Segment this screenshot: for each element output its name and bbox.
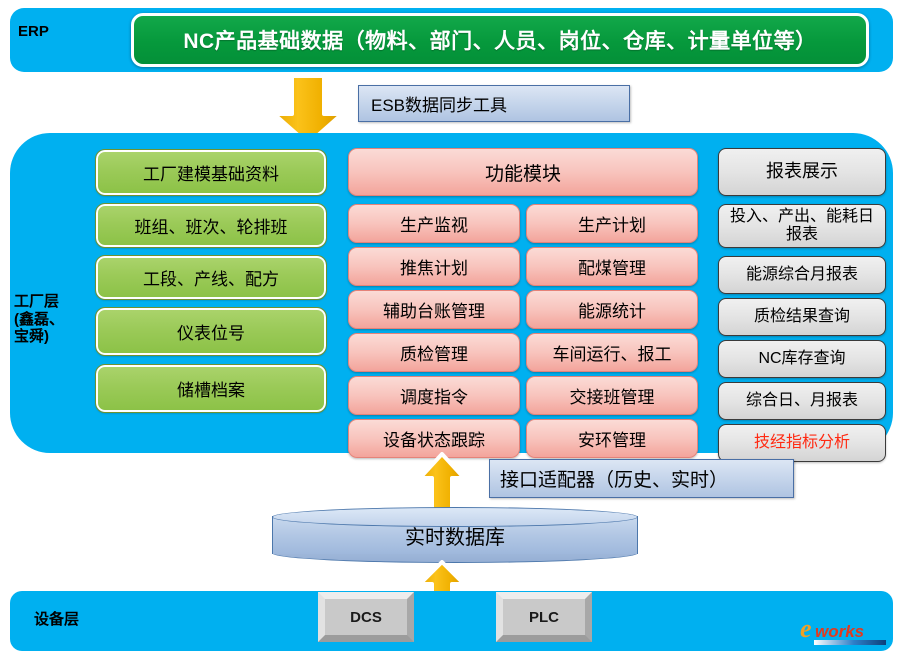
report-item-2-label: 质检结果查询 (754, 308, 850, 326)
module-0-right[interactable]: 生产计划 (526, 204, 698, 243)
factory-item-4[interactable]: 储槽档案 (96, 365, 326, 412)
factory-item-2-label: 工段、产线、配方 (143, 265, 279, 290)
report-item-4-label: 综合日、月报表 (746, 392, 858, 410)
report-item-5-label: 技经指标分析 (754, 434, 850, 452)
realtime-database-label: 实时数据库 (272, 507, 638, 563)
module-0-right-label: 生产计划 (578, 211, 646, 236)
interface-adapter-label: 接口适配器（历史、实时） (500, 465, 728, 492)
module-0-left[interactable]: 生产监视 (348, 204, 520, 243)
svg-text:works: works (815, 622, 864, 641)
device-layer-label: 设备层 (34, 612, 79, 629)
module-5-left-label: 设备状态跟踪 (383, 426, 485, 451)
function-modules-header: 功能模块 (348, 148, 698, 196)
report-item-3-label: NC库存查询 (758, 350, 845, 368)
module-2-left-label: 辅助台账管理 (383, 297, 485, 322)
report-item-0[interactable]: 投入、产出、能耗日报表 (718, 204, 886, 248)
module-2-right-label: 能源统计 (578, 297, 646, 322)
module-2-right[interactable]: 能源统计 (526, 290, 698, 329)
report-item-5[interactable]: 技经指标分析 (718, 424, 886, 462)
module-3-right[interactable]: 车间运行、报工 (526, 333, 698, 372)
module-1-right[interactable]: 配煤管理 (526, 247, 698, 286)
module-1-left[interactable]: 推焦计划 (348, 247, 520, 286)
device-node-dcs-label: DCS (350, 609, 382, 626)
module-4-right[interactable]: 交接班管理 (526, 376, 698, 415)
module-4-left-label: 调度指令 (400, 383, 468, 408)
module-3-left-label: 质检管理 (400, 340, 468, 365)
erp-master-data-label: NC产品基础数据（物料、部门、人员、岗位、仓库、计量单位等） (183, 25, 816, 55)
up-arrow-icon-adapter (418, 452, 466, 512)
reports-header: 报表展示 (718, 148, 886, 196)
module-3-right-label: 车间运行、报工 (553, 340, 672, 365)
report-item-1-label: 能源综合月报表 (746, 266, 858, 284)
erp-layer-label: ERP (18, 24, 49, 41)
module-3-left[interactable]: 质检管理 (348, 333, 520, 372)
erp-master-data-box[interactable]: NC产品基础数据（物料、部门、人员、岗位、仓库、计量单位等） (131, 13, 869, 67)
report-item-3[interactable]: NC库存查询 (718, 340, 886, 378)
function-modules-header-label: 功能模块 (485, 159, 561, 186)
factory-item-1[interactable]: 班组、班次、轮排班 (96, 204, 326, 247)
realtime-database-cylinder[interactable]: 实时数据库 (272, 507, 638, 563)
factory-layer-label: 工厂层 (鑫磊、 宝舜) (14, 293, 100, 346)
report-item-2[interactable]: 质检结果查询 (718, 298, 886, 336)
module-1-left-label: 推焦计划 (400, 254, 468, 279)
module-4-left[interactable]: 调度指令 (348, 376, 520, 415)
factory-item-4-label: 储槽档案 (177, 376, 245, 401)
reports-header-label: 报表展示 (766, 162, 838, 182)
report-item-4[interactable]: 综合日、月报表 (718, 382, 886, 420)
module-2-left[interactable]: 辅助台账管理 (348, 290, 520, 329)
module-4-right-label: 交接班管理 (570, 383, 655, 408)
interface-adapter-callout[interactable]: 接口适配器（历史、实时） (489, 459, 794, 498)
module-1-right-label: 配煤管理 (578, 254, 646, 279)
esb-sync-tool-callout[interactable]: ESB数据同步工具 (358, 85, 630, 122)
diagram-canvas: ERP NC产品基础数据（物料、部门、人员、岗位、仓库、计量单位等） ESB数据… (0, 0, 901, 659)
report-item-0-label: 投入、产出、能耗日报表 (727, 208, 877, 243)
module-5-right[interactable]: 安环管理 (526, 419, 698, 458)
factory-item-1-label: 班组、班次、轮排班 (135, 213, 288, 238)
device-node-plc[interactable]: PLC (496, 592, 592, 642)
device-node-dcs[interactable]: DCS (318, 592, 414, 642)
module-0-left-label: 生产监视 (400, 211, 468, 236)
eworks-logo: e works (800, 612, 892, 648)
report-item-1[interactable]: 能源综合月报表 (718, 256, 886, 294)
factory-item-3-label: 仪表位号 (177, 319, 245, 344)
svg-text:e: e (800, 614, 812, 643)
factory-item-0-label: 工厂建模基础资料 (143, 160, 279, 185)
device-layer-band (10, 591, 893, 651)
factory-item-0[interactable]: 工厂建模基础资料 (96, 150, 326, 195)
esb-sync-tool-label: ESB数据同步工具 (371, 91, 507, 116)
device-node-plc-label: PLC (529, 609, 559, 626)
factory-item-2[interactable]: 工段、产线、配方 (96, 256, 326, 299)
factory-item-3[interactable]: 仪表位号 (96, 308, 326, 355)
module-5-right-label: 安环管理 (578, 426, 646, 451)
